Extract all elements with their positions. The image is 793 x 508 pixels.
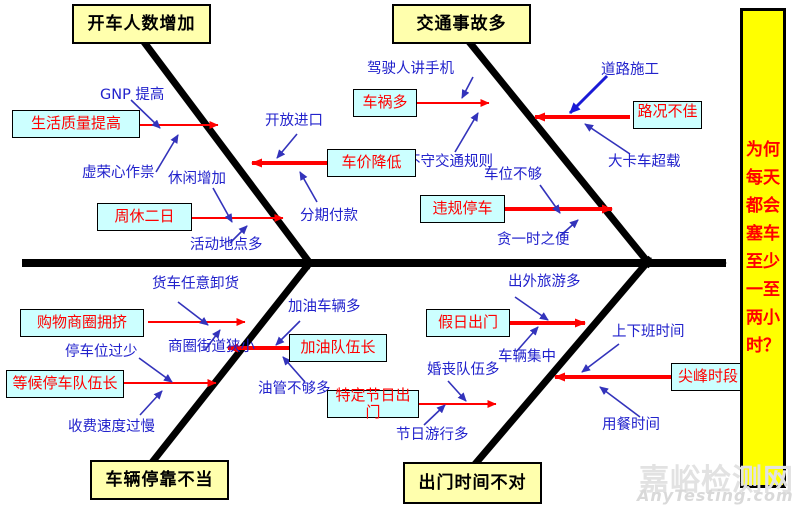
subcause-commute-hours: 上下班时间 <box>612 325 685 340</box>
result-box[interactable]: 为何每天都会塞车至少一至两小时？ <box>740 8 786 488</box>
watermark-site-text: AnyTesting.com <box>637 486 793 505</box>
subcause-vanity: 虚荣心作祟 <box>82 166 155 181</box>
category-box-top-right[interactable]: 交通事故多 <box>392 4 531 44</box>
subcause-gnp-increase: GNP 提高 <box>100 88 164 103</box>
subcause-many-refueling-vehicles: 加油车辆多 <box>288 300 361 315</box>
category-box-bottom-left[interactable]: 车辆停靠不当 <box>90 460 229 500</box>
subcause-festival-parades: 节日游行多 <box>396 428 469 443</box>
subcause-slow-toll-collection: 收费速度过慢 <box>68 420 155 435</box>
subcause-not-enough-parking-spaces: 车位不够 <box>484 168 542 183</box>
subcause-truck-overload: 大卡车超载 <box>608 155 681 170</box>
subcause-too-few-parking-spaces: 停车位过少 <box>65 345 138 360</box>
cause-box-car-price-drop[interactable]: 车价降低 <box>327 149 416 177</box>
subcause-road-construction: 道路施工 <box>601 63 659 78</box>
fishbone-diagram: 开车人数增加 交通事故多 车辆停靠不当 出门时间不对 为何每天都会塞车至少一至两… <box>0 0 793 508</box>
subcause-truck-unloading: 货车任意卸货 <box>152 277 239 292</box>
category-box-top-left[interactable]: 开车人数增加 <box>72 4 211 44</box>
subcause-momentary-convenience: 贪一时之便 <box>497 233 570 248</box>
cause-box-living-quality[interactable]: 生活质量提高 <box>12 110 140 138</box>
subcause-more-leisure: 休闲增加 <box>168 172 226 187</box>
cause-box-two-day-weekend[interactable]: 周休二日 <box>97 203 192 231</box>
subcause-vehicle-concentration: 车辆集中 <box>498 350 556 365</box>
cause-box-special-festival-outing[interactable]: 特定节日出门 <box>327 390 419 418</box>
subcause-driver-on-phone: 驾驶人讲手机 <box>367 62 454 77</box>
subcause-many-activity-spots: 活动地点多 <box>190 238 263 253</box>
subcause-meal-times: 用餐时间 <box>602 418 660 433</box>
category-box-bottom-right[interactable]: 出门时间不对 <box>403 462 542 504</box>
cause-box-holiday-outing[interactable]: 假日出门 <box>426 309 510 337</box>
subcause-wedding-funeral-processions: 婚丧队伍多 <box>427 363 500 378</box>
subcause-breaking-traffic-rules: 不守交通规则 <box>406 155 493 170</box>
cause-box-car-accidents[interactable]: 车祸多 <box>353 89 417 117</box>
subcause-narrow-district-streets: 商圈街道狭小 <box>168 340 255 355</box>
subcause-installment-payment: 分期付款 <box>300 209 358 224</box>
subcause-not-enough-fuel-pipes: 油管不够多 <box>258 382 331 397</box>
cause-box-parking-queue-long[interactable]: 等候停车队伍长 <box>6 370 124 398</box>
cause-box-peak-hours[interactable]: 尖峰时段 <box>671 363 745 391</box>
cause-box-illegal-parking[interactable]: 违规停车 <box>420 195 505 223</box>
cause-box-crowded-shopping-district[interactable]: 购物商圈拥挤 <box>20 309 144 337</box>
cause-box-refueling-queue-long[interactable]: 加油队伍长 <box>289 334 387 362</box>
subcause-travel-outings: 出外旅游多 <box>508 275 581 290</box>
subcause-open-imports: 开放进口 <box>265 114 323 129</box>
cause-box-poor-road-conditions[interactable]: 路况不佳 <box>633 101 702 129</box>
result-text: 为何每天都会塞车至少一至两小时？ <box>746 136 780 360</box>
